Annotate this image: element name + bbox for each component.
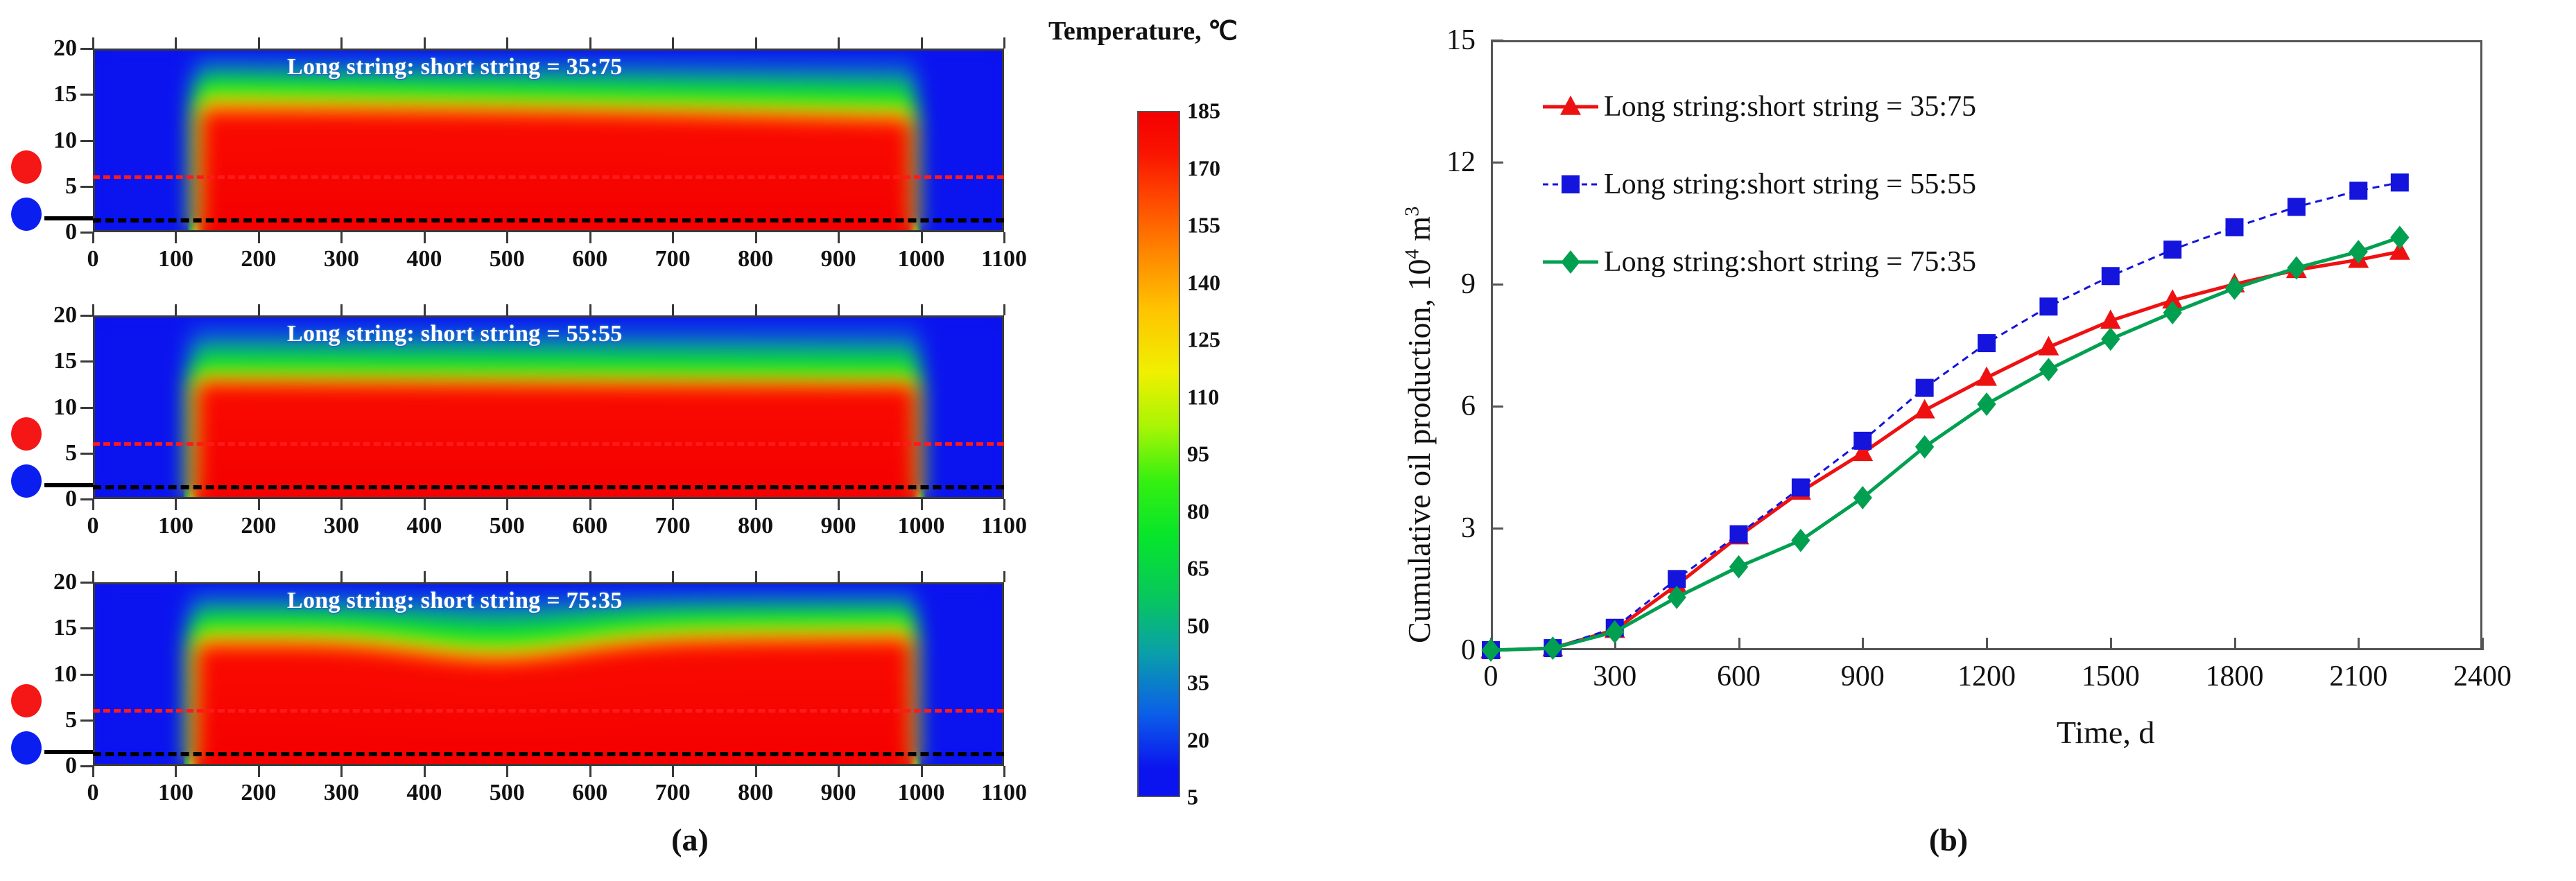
colorbar-tick-5: 5 [1187, 785, 1198, 810]
colorbar-tick-155: 155 [1187, 213, 1220, 238]
legend-row-3: Long string:short string = 75:35 [1543, 245, 1976, 279]
colorbar-tick-80: 80 [1187, 498, 1209, 524]
colorbar-tick-140: 140 [1187, 270, 1220, 295]
legend-label-1: Long string:short string = 35:75 [1604, 90, 1976, 123]
legend-row-2: Long string:short string = 55:55 [1543, 168, 1976, 201]
colorbar-tick-50: 50 [1187, 613, 1209, 638]
colorbar-tick-65: 65 [1187, 556, 1209, 582]
legend-glyph-2 [1562, 175, 1580, 193]
legend-glyph-3 [1561, 250, 1580, 274]
colorbar-tick-170: 170 [1187, 155, 1220, 181]
colorbar-tick-110: 110 [1187, 384, 1219, 410]
legend-label-2: Long string:short string = 55:55 [1604, 168, 1976, 201]
colorbar-group: Temperature, ℃18517015514012511095806550… [0, 0, 1317, 881]
figure-caption-2: (b) [1929, 821, 1968, 858]
colorbar-title: Temperature, ℃ [1048, 15, 1238, 46]
legend-label-3: Long string:short string = 75:35 [1604, 245, 1976, 279]
panel-b: 03691215030060090012001500180021002400Ti… [1317, 0, 2576, 881]
figure-root: Long string: short string = 35:750510152… [0, 0, 2576, 881]
legend-row-1: Long string:short string = 35:75 [1543, 90, 1976, 123]
legend-marker-3 [1543, 261, 1598, 263]
colorbar-tick-185: 185 [1187, 98, 1220, 124]
colorbar-gradient [1137, 111, 1180, 797]
legend-marker-1 [1543, 105, 1598, 108]
chart-legend: Long string:short string = 35:75Long str… [1317, 0, 2576, 881]
colorbar-tick-20: 20 [1187, 727, 1209, 753]
colorbar-tick-95: 95 [1187, 442, 1209, 467]
colorbar-tick-35: 35 [1187, 670, 1209, 696]
colorbar-tick-125: 125 [1187, 327, 1220, 353]
figure-caption-1: (a) [671, 821, 709, 858]
legend-marker-2 [1543, 183, 1598, 186]
